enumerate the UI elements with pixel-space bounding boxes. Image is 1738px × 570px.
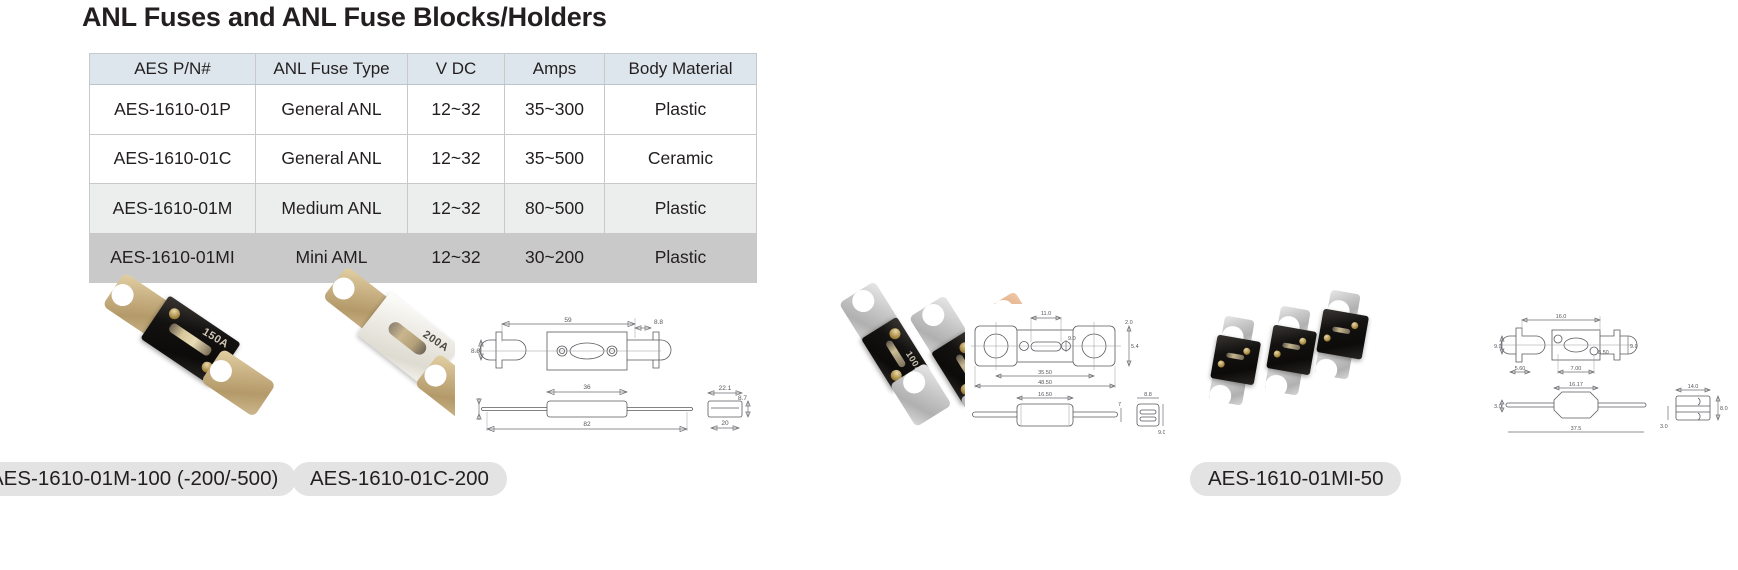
- svg-text:3.0: 3.0: [1660, 424, 1668, 430]
- cell-fuse-type: General ANL: [256, 85, 408, 135]
- svg-text:9.0: 9.0: [1158, 430, 1165, 436]
- cell-vdc: 12~32: [408, 134, 505, 184]
- svg-text:9.0: 9.0: [1494, 344, 1502, 350]
- svg-text:3.0: 3.0: [1494, 404, 1502, 410]
- cell-part-number: AES-1610-01MI: [90, 233, 256, 283]
- panel-anl-plastic: 150A AES-1610-01P-150: [70, 296, 280, 454]
- product-panels: 150A AES-1610-01P-150 200A AES-1610-01C-…: [0, 296, 1738, 570]
- cell-fuse-type: General ANL: [256, 134, 408, 184]
- svg-text:35.50: 35.50: [1038, 370, 1052, 376]
- cell-body-material: Plastic: [605, 85, 757, 135]
- cell-amps: 80~500: [505, 184, 605, 234]
- cell-body-material: Plastic: [605, 184, 757, 234]
- svg-text:8.50: 8.50: [1598, 350, 1609, 356]
- drawing-mini-anl: 16.0 9.0 9.0 5.60 7.00 8.50: [1480, 302, 1730, 447]
- svg-text:14.0: 14.0: [1688, 384, 1699, 390]
- cell-vdc: 12~32: [408, 233, 505, 283]
- cell-vdc: 12~32: [408, 85, 505, 135]
- svg-text:16.50: 16.50: [1038, 392, 1052, 398]
- svg-text:2.0: 2.0: [1125, 320, 1133, 326]
- cell-fuse-type: Medium ANL: [256, 184, 408, 234]
- column-header-body-material: Body Material: [605, 54, 757, 85]
- svg-text:8.8: 8.8: [471, 348, 480, 355]
- caption-mini-anl: AES-1610-01MI-50: [1190, 462, 1401, 496]
- svg-text:7.00: 7.00: [1571, 366, 1582, 372]
- table-header-row: AES P/N# ANL Fuse Type V DC Amps Body Ma…: [90, 54, 757, 85]
- drawing-medium-anl: 11.0 9.0 5.4 2.0 35.50 48.50: [965, 304, 1165, 444]
- svg-text:48.50: 48.50: [1038, 380, 1052, 386]
- caption-medium-anl: AES-1610-01M-100 (-200/-500): [0, 462, 296, 496]
- cell-fuse-type: Mini AML: [256, 233, 408, 283]
- svg-text:36: 36: [583, 384, 591, 391]
- svg-text:16.17: 16.17: [1569, 382, 1583, 388]
- table-row: AES-1610-01MI Mini AML 12~32 30~200 Plas…: [90, 233, 757, 283]
- page-title: ANL Fuses and ANL Fuse Blocks/Holders: [82, 2, 607, 33]
- svg-text:59: 59: [564, 317, 572, 324]
- cell-amps: 30~200: [505, 233, 605, 283]
- cell-part-number: AES-1610-01M: [90, 184, 256, 234]
- column-header-fuse-type: ANL Fuse Type: [256, 54, 408, 85]
- svg-text:5.60: 5.60: [1515, 366, 1526, 372]
- photo-mini-anl-fuses: [1205, 296, 1365, 454]
- cell-part-number: AES-1610-01P: [90, 85, 256, 135]
- cell-amps: 35~500: [505, 134, 605, 184]
- table-row: AES-1610-01P General ANL 12~32 35~300 Pl…: [90, 85, 757, 135]
- photo-anl-plastic-fuse: 150A: [70, 296, 280, 454]
- spec-table: AES P/N# ANL Fuse Type V DC Amps Body Ma…: [89, 53, 757, 283]
- svg-text:8.8: 8.8: [1144, 392, 1152, 398]
- svg-text:11.0: 11.0: [1041, 311, 1051, 317]
- svg-text:8.8: 8.8: [654, 319, 663, 326]
- column-header-vdc: V DC: [408, 54, 505, 85]
- svg-text:20: 20: [721, 420, 729, 427]
- cell-part-number: AES-1610-01C: [90, 134, 256, 184]
- panel-mini-anl: [1205, 296, 1365, 454]
- svg-text:7: 7: [1118, 402, 1121, 408]
- svg-text:82: 82: [583, 421, 591, 428]
- cell-vdc: 12~32: [408, 184, 505, 234]
- svg-text:16.0: 16.0: [1556, 314, 1567, 320]
- cell-body-material: Ceramic: [605, 134, 757, 184]
- cell-body-material: Plastic: [605, 233, 757, 283]
- drawing-general-anl: 59 8.8 8.8 36: [455, 298, 755, 448]
- svg-text:9.0: 9.0: [1630, 344, 1638, 350]
- svg-text:37.5: 37.5: [1571, 426, 1582, 432]
- column-header-part-number: AES P/N#: [90, 54, 256, 85]
- column-header-amps: Amps: [505, 54, 605, 85]
- svg-text:5.4: 5.4: [1131, 344, 1139, 350]
- svg-text:22.1: 22.1: [719, 385, 732, 392]
- svg-text:8.0: 8.0: [1720, 406, 1728, 412]
- svg-text:9.0: 9.0: [1068, 336, 1076, 342]
- table-row: AES-1610-01C General ANL 12~32 35~500 Ce…: [90, 134, 757, 184]
- svg-text:8.7: 8.7: [738, 395, 747, 402]
- cell-amps: 35~300: [505, 85, 605, 135]
- caption-anl-ceramic: AES-1610-01C-200: [292, 462, 507, 496]
- table-row: AES-1610-01M Medium ANL 12~32 80~500 Pla…: [90, 184, 757, 234]
